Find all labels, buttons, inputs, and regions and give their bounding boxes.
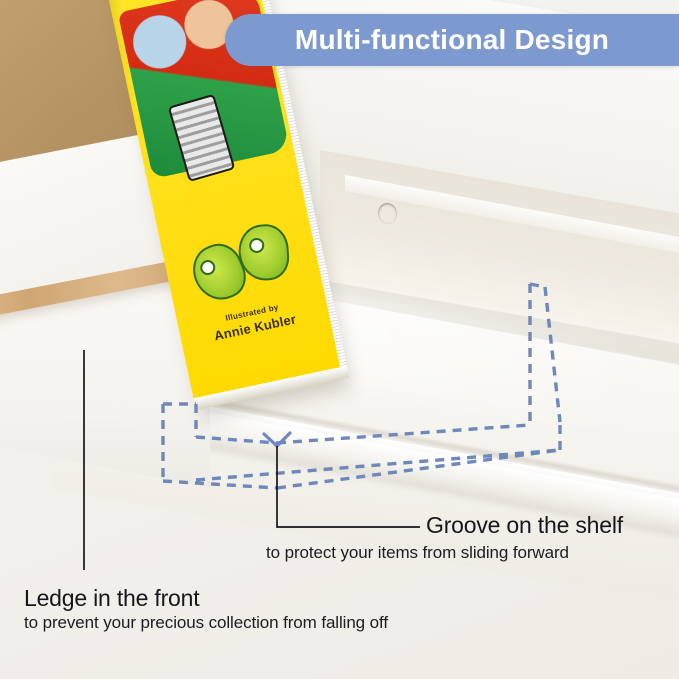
callout-groove: Groove on the shelf to protect your item… (426, 512, 623, 539)
leader-lines (0, 0, 679, 679)
callout-ledge-subtext: to prevent your precious collection from… (24, 612, 388, 633)
title-banner: Multi-functional Design (225, 14, 679, 66)
callout-ledge: Ledge in the front to prevent your preci… (24, 585, 388, 633)
title-banner-text: Multi-functional Design (295, 24, 609, 56)
callout-groove-subtext: to protect your items from sliding forwa… (266, 542, 569, 563)
annotation-overlay: Multi-functional Design Groove on the sh… (0, 0, 679, 679)
callout-groove-heading: Groove on the shelf (426, 512, 623, 539)
groove-leader-line (277, 446, 420, 527)
callout-ledge-heading: Ledge in the front (24, 585, 388, 612)
infographic-canvas: Illustrated by Annie Kubler (0, 0, 679, 679)
groove-v-notch-marker (264, 433, 290, 446)
